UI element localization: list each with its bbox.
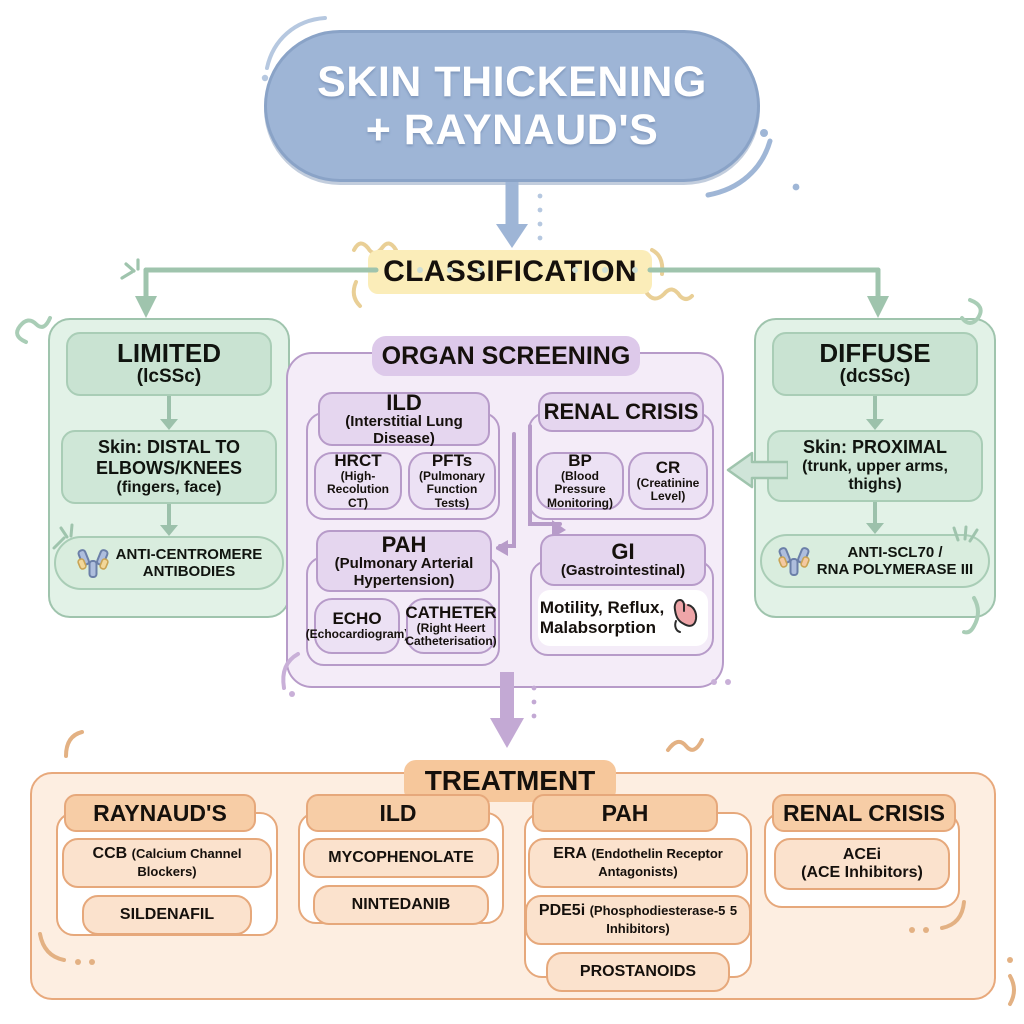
ild-test-pfts-sub-2: Function Tests) [410, 483, 494, 509]
branch-limited-antibody-text: ANTI-CENTROMERE ANTIBODIES [116, 546, 263, 581]
treatment-renal-item-0-abbr: ACEi [843, 846, 881, 864]
ild-header: ILD (Interstitial Lung Disease) [318, 392, 490, 446]
treatment-column-pah[interactable]: ERA (Endothelin Receptor Antagonists) PD… [524, 812, 752, 978]
doodle-treatment-arc-left [52, 724, 92, 764]
gi-header: GI (Gastrointestinal) [540, 534, 706, 586]
pah-subtitle-2: Hypertension) [354, 573, 455, 590]
branch-diffuse-connector-1 [866, 396, 884, 430]
renal-test-cr-main: CR [656, 459, 681, 477]
treatment-pah-header: PAH [532, 794, 718, 832]
treatment-pah-item-2[interactable]: PROSTANOIDS [546, 952, 730, 992]
treatment-ild-title: ILD [379, 800, 416, 827]
treatment-ild-item-0[interactable]: MYCOPHENOLATE [303, 838, 499, 878]
antibody-icon [777, 544, 811, 578]
treatment-pah-item-2-abbr: PROSTANOIDS [580, 963, 696, 981]
renal-crisis-header: RENAL CRISIS [538, 392, 704, 432]
pah-test-catheter-main: CATHETER [405, 604, 496, 622]
gi-body-line-1: Motility, Reflux, [540, 598, 664, 618]
treatment-pah-item-0-text: ERA (Endothelin Receptor Antagonists) [540, 845, 736, 880]
gi-body: Motility, Reflux, Malabsorption [538, 590, 708, 646]
treatment-raynauds-item-1[interactable]: SILDENAFIL [82, 895, 252, 935]
antibody-icon [76, 546, 110, 580]
ild-test-hrct-sub-2: CT) [348, 497, 368, 510]
branch-limited-skin-line-2: ELBOWS/KNEES [69, 458, 269, 479]
ild-test-pfts-main: PFTs [432, 452, 472, 470]
treatment-raynauds-title: RAYNAUD'S [93, 800, 227, 827]
treatment-ild-header: ILD [306, 794, 490, 832]
branch-diffuse-antibody-line-2: RNA POLYMERASE III [817, 561, 973, 578]
doodle-treatment-squiggle [660, 716, 714, 764]
ild-title: ILD [386, 391, 421, 414]
ild-test-hrct-main: HRCT [334, 452, 381, 470]
renal-test-bp-sub-1: (Blood Pressure [538, 470, 622, 496]
renal-test-cr[interactable]: CR (Creatinine Level) [628, 452, 708, 510]
treatment-pah-item-1[interactable]: PDE5i (Phosphodiesterase-5 5 Inhibitors) [525, 895, 751, 945]
branch-diffuse-antibody-line-1: ANTI-SCL70 / [817, 544, 973, 561]
branch-diffuse-antibodies: ANTI-SCL70 / RNA POLYMERASE III [760, 534, 990, 589]
renal-test-cr-sub-2: Level) [651, 490, 686, 503]
doodle-bottom-right-edge [1000, 950, 1024, 1010]
branch-limited-connector-2 [160, 504, 178, 536]
branch-limited-antibody-line-2: ANTIBODIES [116, 563, 263, 580]
ild-test-hrct[interactable]: HRCT (High-Recolution CT) [314, 452, 402, 510]
ild-subtitle: (Interstitial Lung Disease) [320, 414, 488, 447]
pah-test-catheter[interactable]: CATHETER (Right Heert Catheterisation) [406, 598, 496, 654]
treatment-pah-item-1-exp-1: (Phosphodiesterase-5 [590, 903, 726, 918]
treatment-raynauds-header: RAYNAUD'S [64, 794, 256, 832]
renal-test-bp-sub-2: Monitoring) [547, 497, 613, 510]
renal-test-bp[interactable]: BP (Blood Pressure Monitoring) [536, 452, 624, 510]
sparkle-left-classification [118, 258, 154, 298]
title-line-2: + RAYNAUD'S [366, 106, 659, 154]
branch-diffuse-connector-2 [866, 502, 884, 534]
treatment-pah-item-0-abbr: ERA [553, 845, 587, 862]
arrow-title-to-classification [492, 182, 532, 254]
organ-screening-header: ORGAN SCREENING [372, 336, 640, 376]
pah-test-catheter-sub-2: Catheterisation) [405, 635, 496, 648]
branch-limited-abbrev: (lcSSc) [76, 367, 262, 388]
branch-limited-skin: Skin: DISTAL TO ELBOWS/KNEES (fingers, f… [61, 430, 277, 504]
treatment-raynauds-item-0-text: CCB (Calcium Channel Blockers) [74, 845, 260, 880]
classification-label: CLASSIFICATION [383, 255, 637, 289]
page-title: SKIN THICKENING + RAYNAUD'S [264, 30, 760, 182]
treatment-title: TREATMENT [425, 765, 596, 797]
pah-title: PAH [382, 533, 427, 556]
pah-header: PAH (Pulmonary Arterial Hypertension) [316, 530, 492, 592]
branch-diffuse-antibody-text: ANTI-SCL70 / RNA POLYMERASE III [817, 544, 973, 579]
branch-diffuse-skin: Skin: PROXIMAL (trunk, upper arms, thigh… [767, 430, 983, 501]
diagram-canvas: SKIN THICKENING + RAYNAUD'S CLASSIFICATI… [0, 0, 1024, 1024]
treatment-pah-item-0[interactable]: ERA (Endothelin Receptor Antagonists) [528, 838, 748, 888]
ild-test-pfts[interactable]: PFTs (Pulmonary Function Tests) [408, 452, 496, 510]
branch-diffuse-skin-line-2: (trunk, upper arms, [775, 458, 975, 476]
classification-node[interactable]: CLASSIFICATION [368, 250, 652, 294]
treatment-renal-item-0[interactable]: ACEi (ACE Inhibitors) [774, 838, 950, 890]
pah-test-echo-main: ECHO [332, 610, 381, 628]
branch-limited-name: LIMITED [76, 340, 262, 367]
branch-diffuse-abbrev: (dcSSc) [782, 367, 968, 388]
treatment-pah-item-0-exp-2: Antagonists) [598, 864, 677, 879]
branch-limited-skin-line-3: (fingers, face) [69, 479, 269, 497]
branch-limited-connector-1 [160, 396, 178, 430]
branch-limited-antibody-line-1: ANTI-CENTROMERE [116, 546, 263, 563]
treatment-raynauds-item-0[interactable]: CCB (Calcium Channel Blockers) [62, 838, 272, 888]
renal-crisis-title: RENAL CRISIS [544, 400, 699, 423]
treatment-renal-title: RENAL CRISIS [783, 800, 945, 827]
branch-diffuse-header: DIFFUSE (dcSSc) [772, 332, 978, 396]
branch-diffuse[interactable]: DIFFUSE (dcSSc) Skin: PROXIMAL (trunk, u… [754, 318, 996, 618]
treatment-raynauds-item-0-abbr: CCB [93, 845, 128, 862]
renal-test-cr-sub-1: (Creatinine [637, 477, 700, 490]
gi-subtitle: (Gastrointestinal) [561, 563, 685, 580]
pah-test-echo[interactable]: ECHO (Echocardiogram) [314, 598, 400, 654]
branch-limited-header: LIMITED (lcSSc) [66, 332, 272, 396]
treatment-renal-header: RENAL CRISIS [772, 794, 956, 832]
stomach-icon [668, 597, 706, 639]
title-line-1: SKIN THICKENING [317, 58, 707, 106]
pah-subtitle-1: (Pulmonary Arterial [335, 556, 474, 573]
branch-limited-antibodies: ANTI-CENTROMERE ANTIBODIES [54, 536, 284, 591]
pah-test-echo-sub-1: (Echocardiogram) [306, 628, 409, 641]
branch-diffuse-skin-line-1: Skin: PROXIMAL [775, 437, 975, 458]
renal-test-bp-main: BP [568, 452, 592, 470]
treatment-ild-item-0-abbr: MYCOPHENOLATE [328, 849, 473, 867]
branch-limited-skin-line-1: Skin: DISTAL TO [69, 437, 269, 458]
gi-body-line-2: Malabsorption [540, 618, 664, 638]
treatment-raynauds-item-0-exp-2: Blockers) [137, 864, 196, 879]
treatment-pah-item-1-text: PDE5i (Phosphodiesterase-5 5 Inhibitors) [537, 902, 739, 937]
treatment-pah-item-0-exp-1: (Endothelin Receptor [591, 846, 722, 861]
treatment-ild-item-1[interactable]: NINTEDANIB [313, 885, 489, 925]
arrow-dots-treatment [528, 682, 544, 738]
branch-diffuse-name: DIFFUSE [782, 340, 968, 367]
treatment-raynauds-item-1-abbr: SILDENAFIL [120, 906, 214, 924]
treatment-raynauds-item-0-exp-1: (Calcium Channel [132, 846, 242, 861]
ild-test-hrct-sub-1: (High-Recolution [316, 470, 400, 496]
treatment-ild-item-1-abbr: NINTEDANIB [352, 896, 451, 914]
branch-limited[interactable]: LIMITED (lcSSc) Skin: DISTAL TO ELBOWS/K… [48, 318, 290, 618]
organ-screening-title: ORGAN SCREENING [382, 342, 631, 371]
branch-diffuse-skin-line-3: thighs) [775, 476, 975, 494]
pah-test-catheter-sub-1: (Right Heert [417, 622, 486, 635]
treatment-pah-title: PAH [602, 800, 649, 827]
treatment-renal-item-0-exp-1: (ACE Inhibitors) [801, 864, 923, 882]
arrow-dots-title [534, 190, 550, 250]
gi-title: GI [611, 540, 634, 563]
treatment-pah-item-1-abbr: PDE5i [539, 902, 585, 919]
